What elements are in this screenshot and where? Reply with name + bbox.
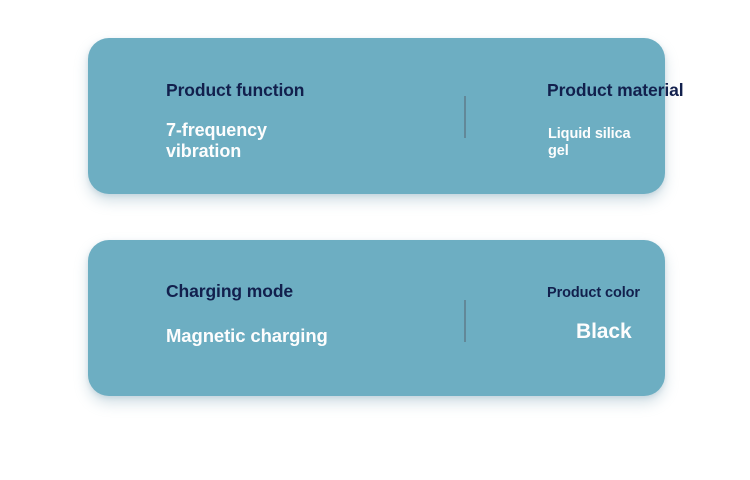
spec-label-product-function: Product function	[166, 80, 304, 101]
spec-column-product-material: Product material Liquid silica gel	[460, 38, 655, 194]
spec-card-charging-color: Charging mode Magnetic charging Product …	[88, 240, 665, 396]
spec-label-charging-mode: Charging mode	[166, 281, 293, 302]
spec-label-product-color: Product color	[547, 285, 640, 301]
spec-value-product-color: Black	[576, 320, 632, 345]
spec-column-charging-mode: Charging mode Magnetic charging	[166, 240, 436, 396]
spec-card-inner: Product function 7-frequency vibration P…	[88, 38, 665, 194]
spec-value-product-function: 7-frequency vibration	[166, 120, 336, 162]
spec-value-product-material: Liquid silica gel	[548, 126, 655, 160]
spec-card-inner: Charging mode Magnetic charging Product …	[88, 240, 665, 396]
spec-label-product-material: Product material	[547, 80, 684, 101]
spec-board: Product function 7-frequency vibration P…	[0, 0, 750, 480]
spec-column-product-color: Product color Black	[460, 240, 655, 396]
spec-column-product-function: Product function 7-frequency vibration	[166, 38, 436, 194]
spec-value-charging-mode: Magnetic charging	[166, 325, 328, 347]
spec-card-product-overview: Product function 7-frequency vibration P…	[88, 38, 665, 194]
